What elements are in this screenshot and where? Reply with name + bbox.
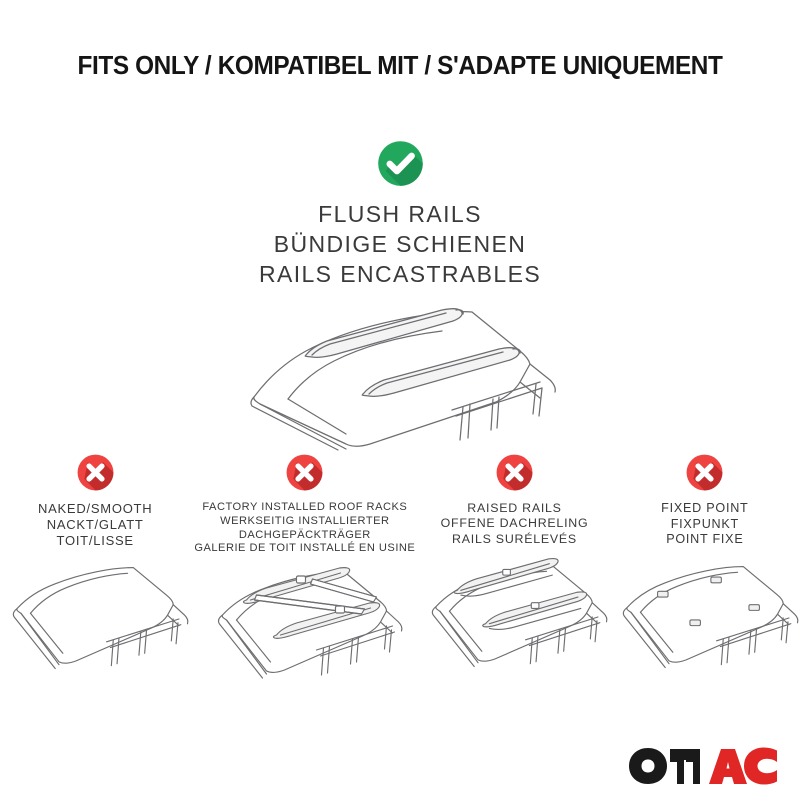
incompatible-label-fr: POINT FIXE (614, 532, 796, 548)
compatible-label-de: BÜNDIGE SCHIENEN (0, 230, 800, 260)
cross-circle-icon (284, 452, 325, 493)
header: FITS ONLY / KOMPATIBEL MIT / S'ADAPTE UN… (0, 52, 800, 81)
incompatible-grid: NAKED/SMOOTH NACKT/GLATT TOIT/LISSE (0, 452, 800, 695)
compatible-labels: FLUSH RAILS BÜNDIGE SCHIENEN RAILS ENCAS… (0, 200, 800, 290)
incompatible-label-de-2: DACHGEPÄCKTRÄGER (194, 529, 415, 543)
car-roof-raised-rails-illustration (419, 553, 609, 681)
car-roof-flush-rails-illustration (0, 304, 800, 454)
compatible-label-fr: RAILS ENCASTRABLES (0, 260, 800, 290)
logo-letter-m-bar (670, 749, 700, 760)
omac-logo (628, 746, 778, 786)
incompatible-label-en: FACTORY INSTALLED ROOF RACKS (194, 501, 415, 515)
incompatible-label-de: OFFENE DACHRELING (423, 516, 605, 531)
incompatible-label-en: FIXED POINT (614, 501, 796, 517)
logo-letter-o (629, 748, 667, 784)
incompatible-label-fr: GALERIE DE TOIT INSTALLÉ EN USINE (194, 542, 415, 556)
incompatible-label-de-1: WERKSEITIG INSTALLIERTER (194, 515, 415, 529)
car-roof-naked-smooth-illustration (0, 555, 190, 683)
incompatible-column-naked-smooth: NAKED/SMOOTH NACKT/GLATT TOIT/LISSE (0, 452, 190, 688)
incompatible-label-fr: TOIT/LISSE (4, 533, 186, 549)
incompatible-column-raised-rails: RAISED RAILS OFFENE DACHRELING RAILS SUR… (419, 452, 609, 686)
incompatible-column-factory-roof-racks: FACTORY INSTALLED ROOF RACKS WERKSEITIG … (190, 452, 419, 695)
logo-letter-a (709, 749, 747, 784)
cross-circle-icon (494, 452, 535, 493)
compatible-label-en: FLUSH RAILS (0, 200, 800, 230)
incompatible-labels: FACTORY INSTALLED ROOF RACKS WERKSEITIG … (190, 501, 419, 556)
incompatible-label-de: NACKT/GLATT (4, 517, 186, 533)
check-circle-icon (375, 138, 426, 189)
page-title: FITS ONLY / KOMPATIBEL MIT / S'ADAPTE UN… (18, 52, 782, 81)
incompatible-label-en: NAKED/SMOOTH (4, 501, 186, 517)
cross-circle-icon (75, 452, 116, 493)
cross-circle-icon (684, 452, 725, 493)
compatible-block: FLUSH RAILS BÜNDIGE SCHIENEN RAILS ENCAS… (0, 138, 800, 459)
incompatible-label-de: FIXPUNKT (614, 517, 796, 533)
incompatible-labels: RAISED RAILS OFFENE DACHRELING RAILS SUR… (419, 501, 609, 547)
car-roof-factory-roof-racks-illustration (190, 562, 419, 690)
incompatible-labels: FIXED POINT FIXPUNKT POINT FIXE (610, 501, 800, 548)
incompatible-label-en: RAISED RAILS (423, 501, 605, 516)
incompatible-label-fr: RAILS SURÉLEVÉS (423, 532, 605, 547)
car-roof-fixed-point-illustration (610, 554, 800, 682)
incompatible-labels: NAKED/SMOOTH NACKT/GLATT TOIT/LISSE (0, 501, 190, 549)
incompatible-column-fixed-point: FIXED POINT FIXPUNKT POINT FIXE (610, 452, 800, 687)
logo-letter-c (744, 748, 777, 785)
